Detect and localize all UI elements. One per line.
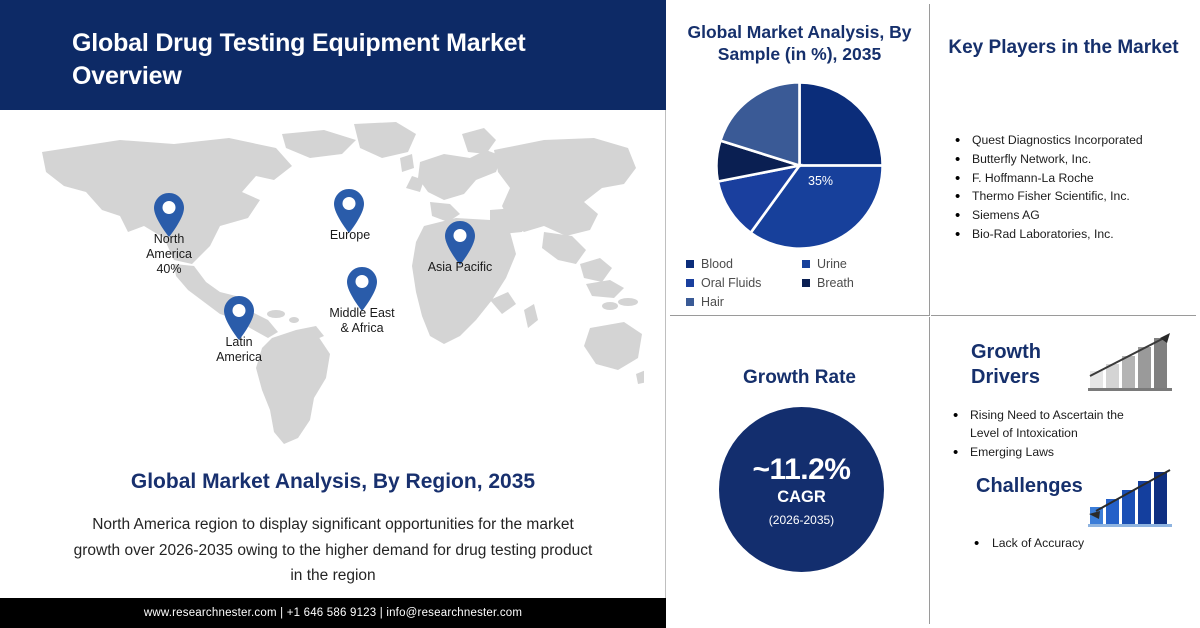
map-description: North America region to display signific… — [70, 512, 596, 589]
cagr-label: CAGR — [777, 488, 826, 507]
cagr-period: (2026-2035) — [769, 513, 834, 527]
cagr-value: ~11.2% — [753, 453, 851, 487]
legend-label: Urine — [817, 257, 847, 271]
left-panel: Global Drug Testing Equipment Market Ove… — [0, 0, 666, 628]
pie-chart-panel: Global Market Analysis, By Sample (in %)… — [670, 4, 930, 316]
legend-item-oral-fluids: Oral Fluids — [686, 276, 794, 290]
list-item: Bio-Rad Laboratories, Inc. — [953, 226, 1191, 244]
list-item: Rising Need to Ascertain the Level of In… — [951, 407, 1151, 442]
world-map: North America 40% Latin America Europe M… — [0, 110, 666, 460]
growth-drivers-title: Growth Drivers — [971, 340, 1101, 390]
list-item: F. Hoffmann-La Roche — [953, 170, 1191, 188]
pie-data-label-urine: 35% — [808, 174, 833, 188]
legend-item-blood: Blood — [686, 257, 794, 271]
challenges-title: Challenges — [976, 475, 1083, 498]
legend-label: Hair — [701, 295, 724, 309]
pie-panel-title: Global Market Analysis, By Sample (in %)… — [670, 22, 929, 66]
infographic-page: Global Drug Testing Equipment Market Ove… — [0, 0, 1200, 628]
page-title: Global Drug Testing Equipment Market Ove… — [72, 27, 612, 93]
key-players-panel: Key Players in the Market Quest Diagnost… — [931, 4, 1196, 316]
key-players-title: Key Players in the Market — [931, 36, 1196, 60]
pie-slice-blood — [800, 82, 883, 165]
legend-swatch-icon — [686, 260, 694, 268]
growth-rate-title: Growth Rate — [670, 366, 929, 390]
legend-label: Breath — [817, 276, 854, 290]
legend-swatch-icon — [802, 260, 810, 268]
list-item: Quest Diagnostics Incorporated — [953, 132, 1191, 150]
legend-swatch-icon — [686, 298, 694, 306]
legend-item-breath: Breath — [802, 276, 902, 290]
pie-chart-svg — [712, 78, 887, 253]
map-caption: Global Market Analysis, By Region, 2035 — [0, 470, 666, 494]
region-label-north-america: North America 40% — [122, 232, 216, 277]
region-label-europe: Europe — [304, 228, 396, 243]
legend-item-urine: Urine — [802, 257, 902, 271]
legend-swatch-icon — [686, 279, 694, 287]
region-label-middle-east-africa: Middle East & Africa — [312, 306, 412, 336]
list-item: Siemens AG — [953, 207, 1191, 225]
key-players-list: Quest Diagnostics Incorporated Butterfly… — [953, 132, 1191, 245]
challenges-list: Lack of Accuracy — [956, 535, 1166, 554]
growth-rate-circle: ~11.2% CAGR (2026-2035) — [719, 407, 884, 572]
growth-drivers-list: Rising Need to Ascertain the Level of In… — [951, 407, 1151, 464]
pie-chart: 35% — [712, 78, 887, 253]
world-map-svg — [24, 114, 644, 454]
legend-swatch-icon — [802, 279, 810, 287]
pie-legend: Blood Urine Oral Fluids Breath Hair — [686, 257, 918, 309]
list-item: Thermo Fisher Scientific, Inc. — [953, 188, 1191, 206]
growth-rate-panel: Growth Rate ~11.2% CAGR (2026-2035) — [670, 317, 930, 624]
footer-bar: www.researchnester.com | +1 646 586 9123… — [0, 598, 666, 628]
legend-label: Oral Fluids — [701, 276, 761, 290]
legend-label: Blood — [701, 257, 733, 271]
region-label-latin-america: Latin America — [192, 335, 286, 365]
growth-drivers-bar-chart-icon — [1086, 331, 1176, 393]
title-bar: Global Drug Testing Equipment Market Ove… — [0, 0, 666, 110]
drivers-challenges-panel: Growth Drivers Rising Need to Ascertain … — [931, 317, 1196, 624]
list-item: Butterfly Network, Inc. — [953, 151, 1191, 169]
challenges-bar-chart-icon — [1086, 467, 1176, 529]
list-item: Emerging Laws — [951, 444, 1151, 462]
region-label-asia-pacific: Asia Pacific — [408, 260, 512, 275]
list-item: Lack of Accuracy — [956, 535, 1166, 552]
legend-item-hair: Hair — [686, 295, 794, 309]
footer-contact-text: www.researchnester.com | +1 646 586 9123… — [144, 607, 522, 619]
